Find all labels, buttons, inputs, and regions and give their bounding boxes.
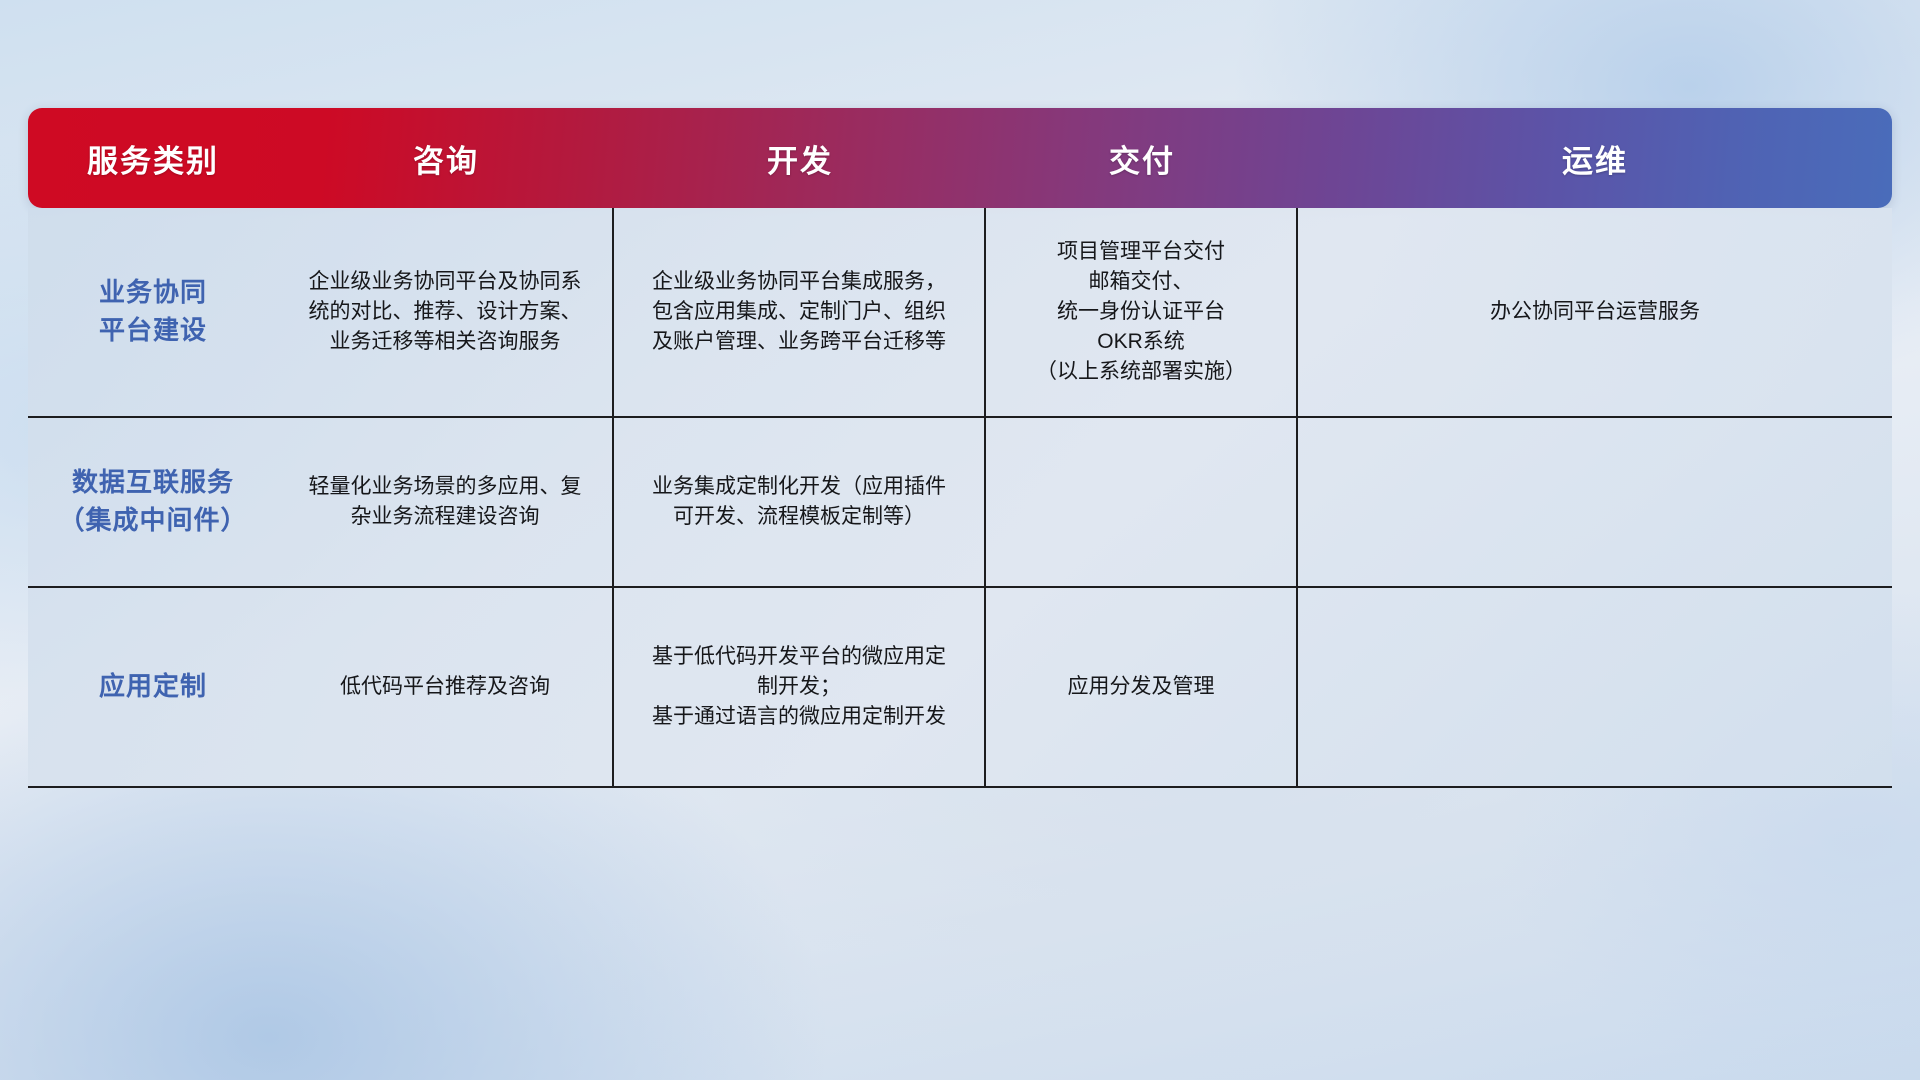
column-header-operations: 运维 (1298, 108, 1892, 208)
cell-delivery: 项目管理平台交付 邮箱交付、 统一身份认证平台 OKR系统 （以上系统部署实施） (986, 208, 1298, 416)
table-row: 业务协同 平台建设 企业级业务协同平台及协同系 统的对比、推荐、设计方案、 业务… (28, 208, 1892, 418)
column-header-delivery: 交付 (986, 108, 1298, 208)
column-header-consulting: 咨询 (278, 108, 614, 208)
table-row: 应用定制 低代码平台推荐及咨询 基于低代码开发平台的微应用定 制开发； 基于通过… (28, 588, 1892, 788)
cell-development: 业务集成定制化开发（应用插件 可开发、流程模板定制等） (614, 418, 986, 586)
column-header-service-category: 服务类别 (28, 108, 278, 208)
row-category-label: 应用定制 (28, 588, 278, 786)
service-category-table: 服务类别 咨询 开发 交付 运维 业务协同 平台建设 企业级业务协同平台及协同系… (28, 108, 1892, 788)
column-header-development: 开发 (614, 108, 986, 208)
cell-operations: 办公协同平台运营服务 (1298, 208, 1892, 416)
row-category-label: 业务协同 平台建设 (28, 208, 278, 416)
cell-delivery (986, 418, 1298, 586)
row-category-label: 数据互联服务 （集成中间件） (28, 418, 278, 586)
table-row: 数据互联服务 （集成中间件） 轻量化业务场景的多应用、复 杂业务流程建设咨询 业… (28, 418, 1892, 588)
cell-consulting: 轻量化业务场景的多应用、复 杂业务流程建设咨询 (278, 418, 614, 586)
cell-operations (1298, 418, 1892, 586)
cell-development: 基于低代码开发平台的微应用定 制开发； 基于通过语言的微应用定制开发 (614, 588, 986, 786)
cell-development: 企业级业务协同平台集成服务， 包含应用集成、定制门户、组织 及账户管理、业务跨平… (614, 208, 986, 416)
cell-delivery: 应用分发及管理 (986, 588, 1298, 786)
table-header-row: 服务类别 咨询 开发 交付 运维 (28, 108, 1892, 208)
cell-consulting: 低代码平台推荐及咨询 (278, 588, 614, 786)
table-body: 业务协同 平台建设 企业级业务协同平台及协同系 统的对比、推荐、设计方案、 业务… (28, 208, 1892, 788)
cell-operations (1298, 588, 1892, 786)
cell-consulting: 企业级业务协同平台及协同系 统的对比、推荐、设计方案、 业务迁移等相关咨询服务 (278, 208, 614, 416)
